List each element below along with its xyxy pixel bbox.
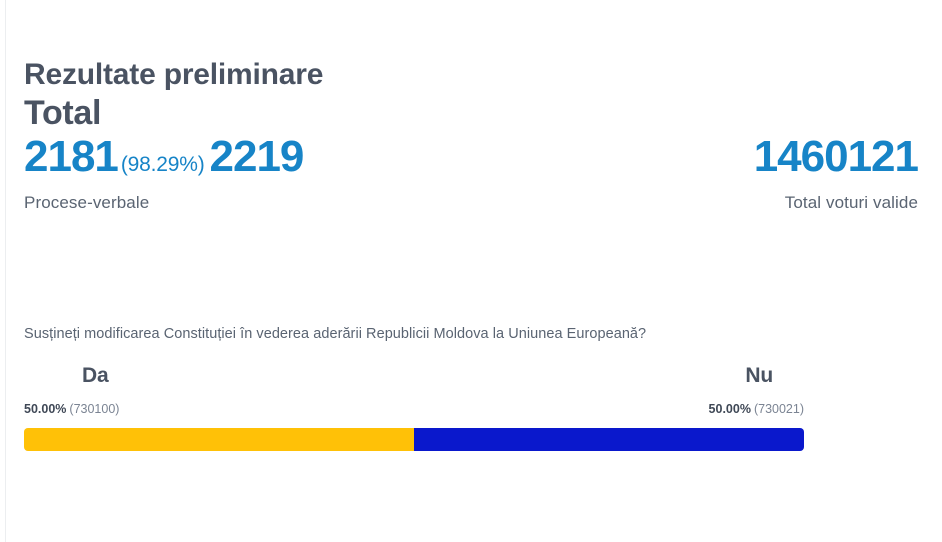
option-label-nu: Nu [745, 364, 773, 388]
valid-votes-value: 1460121 [754, 135, 918, 179]
protocols-stat: 2181(98.29%)2219 Procese-verbale [24, 135, 303, 213]
protocols-counted-value: 2181 [24, 135, 118, 179]
option-label-da: Da [82, 364, 108, 388]
preliminary-results-title: Rezultate preliminare [24, 58, 918, 93]
protocols-total-value: 2219 [210, 135, 304, 179]
election-results-page: Rezultate preliminare Total 2181(98.29%)… [0, 0, 942, 542]
results-bar-segment-nu [414, 428, 804, 451]
option-values-row: 50.00%(730100) 50.00%(730021) [24, 402, 804, 420]
summary-stats-row: 2181(98.29%)2219 Procese-verbale 1460121… [24, 135, 918, 235]
option-value-da: 50.00%(730100) [24, 402, 119, 416]
results-summary: Rezultate preliminare Total 2181(98.29%)… [24, 58, 918, 235]
valid-votes-caption: Total voturi valide [754, 193, 918, 213]
protocols-percent-value: (98.29%) [118, 153, 210, 177]
scope-title: Total [24, 93, 918, 133]
protocols-figures: 2181(98.29%)2219 [24, 135, 303, 179]
option-value-nu: 50.00%(730021) [709, 402, 804, 416]
valid-votes-figures: 1460121 [754, 135, 918, 179]
valid-votes-stat: 1460121 Total voturi valide [754, 135, 918, 213]
option-labels-row: Da Nu [24, 364, 804, 398]
option-percent-nu: 50.00% [709, 402, 751, 416]
results-bar [24, 428, 804, 451]
referendum-block: Susțineți modificarea Constituției în ve… [24, 325, 804, 451]
option-count-da: (730100) [66, 402, 119, 416]
option-count-nu: (730021) [751, 402, 804, 416]
referendum-question: Susțineți modificarea Constituției în ve… [24, 325, 804, 344]
results-bar-segment-da [24, 428, 414, 451]
protocols-caption: Procese-verbale [24, 193, 303, 213]
option-percent-da: 50.00% [24, 402, 66, 416]
